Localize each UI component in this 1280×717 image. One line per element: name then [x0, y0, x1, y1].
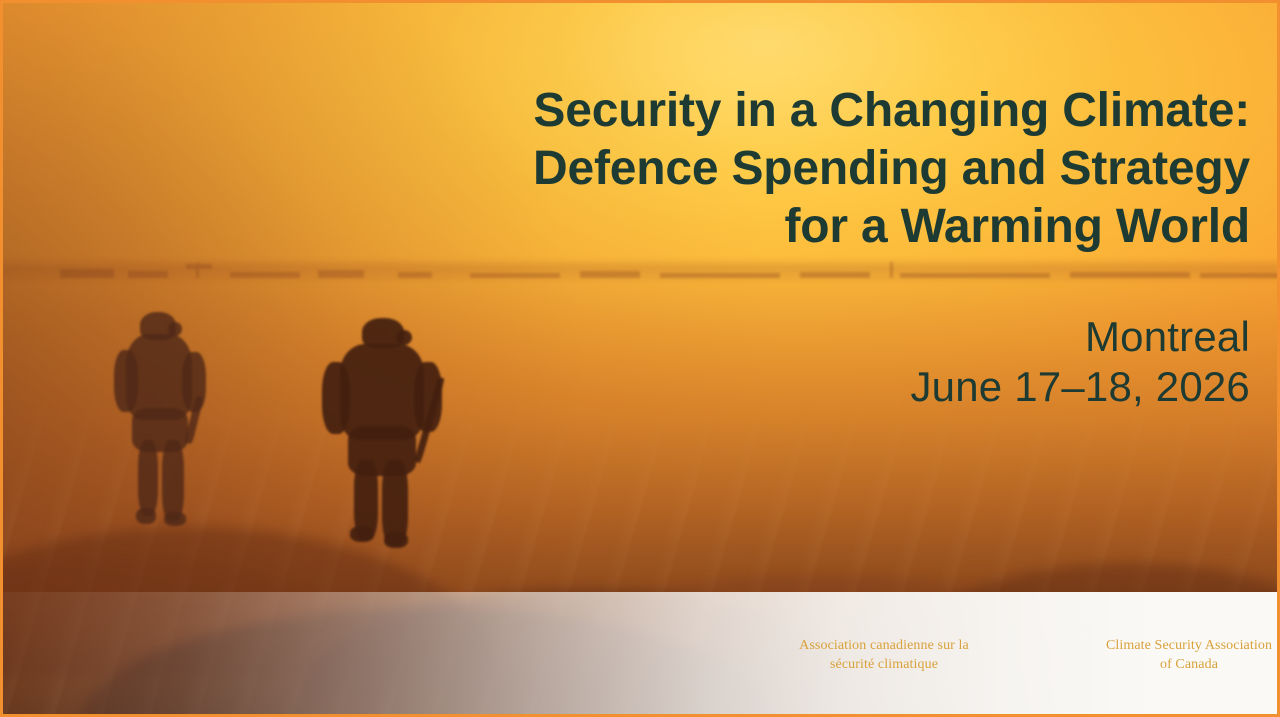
event-details: Montreal June 17–18, 2026 — [400, 312, 1250, 412]
title-slide: Security in a Changing Climate: Defence … — [0, 0, 1280, 717]
event-location: Montreal — [400, 312, 1250, 362]
slide-title-line-2: Defence Spending and Strategy — [400, 140, 1250, 198]
slide-title: Security in a Changing Climate: Defence … — [400, 82, 1250, 256]
slide-title-line-3: for a Warming World — [400, 198, 1250, 256]
slide-title-line-1: Security in a Changing Climate: — [400, 82, 1250, 140]
event-dates: June 17–18, 2026 — [400, 362, 1250, 412]
footer-bar: Association canadienne sur la sécurité c… — [0, 592, 1280, 717]
organization-name-french: Association canadienne sur la sécurité c… — [795, 636, 973, 674]
soldier-silhouette-left — [106, 312, 214, 527]
organization-name-english: Climate Security Association of Canada — [1098, 636, 1280, 674]
